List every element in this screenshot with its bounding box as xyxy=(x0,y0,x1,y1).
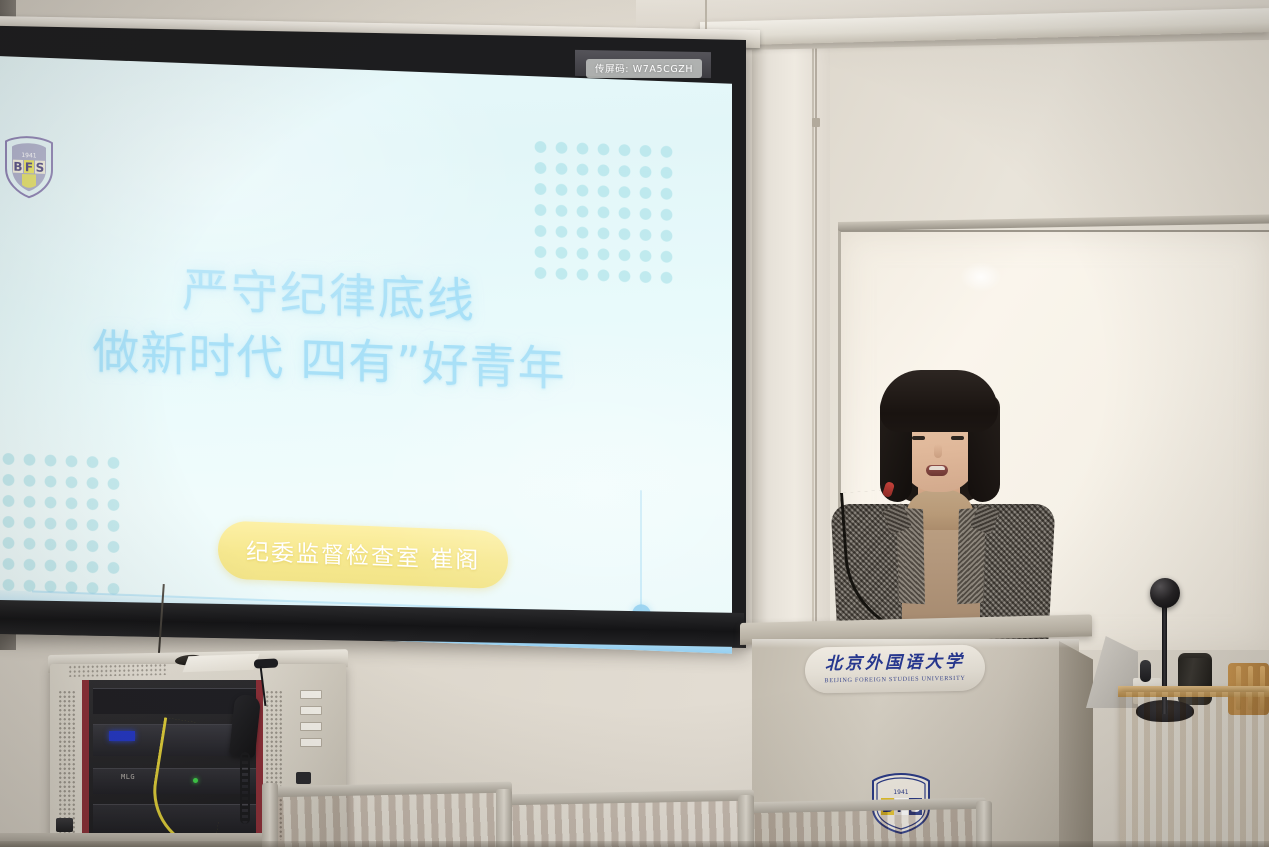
projection-screen-surface: 1941 B F S 严守纪律底线 做新时代 四有”好青年 纪委监督检查室 崔阁 xyxy=(0,56,732,654)
svg-text:F: F xyxy=(25,160,33,174)
floor-strip xyxy=(0,841,1269,847)
av-rack-vent-top xyxy=(68,663,168,677)
eye-left xyxy=(912,436,925,440)
rack-control-buttons[interactable] xyxy=(300,690,326,756)
ball-microphone xyxy=(1150,578,1180,608)
wall-cable xyxy=(815,36,817,646)
svg-text:S: S xyxy=(36,160,45,174)
rack-power-socket[interactable] xyxy=(56,818,73,832)
plaque-english-name: BEIJING FOREIGN STUDIES UNIVERSITY xyxy=(824,675,965,684)
podium-name-plaque: 北京外国语大学 BEIJING FOREIGN STUDIES UNIVERSI… xyxy=(805,644,985,693)
svg-text:1941: 1941 xyxy=(893,789,908,796)
hair-front xyxy=(880,370,998,432)
whiteboard-glare xyxy=(960,262,1002,292)
pillar-seam xyxy=(812,30,814,678)
phone-coiled-cord xyxy=(240,752,250,824)
projection-screen-frame: 1941 B F S 严守纪律底线 做新时代 四有”好青年 纪委监督检查室 崔阁 xyxy=(0,26,746,648)
eye-right xyxy=(951,436,964,440)
rack-button-2[interactable] xyxy=(300,706,322,715)
slide-dot-pattern-top-right xyxy=(530,136,680,290)
rack-button-3[interactable] xyxy=(300,722,322,731)
side-desk xyxy=(1120,692,1269,847)
rack-brand-label: MLG xyxy=(121,773,135,781)
rack-display-led xyxy=(109,731,135,741)
desk-microphone-capsule xyxy=(1140,660,1151,682)
rack-button-4[interactable] xyxy=(300,738,322,747)
lecture-hall-photo: 1941 B F S 严守纪律底线 做新时代 四有”好青年 纪委监督检查室 崔阁… xyxy=(0,0,1269,847)
rack-unit-1 xyxy=(93,688,256,714)
cable-clip xyxy=(812,118,820,127)
slide-dot-pattern-bottom-left xyxy=(0,448,128,603)
screen-share-code-label: 传屏码: W7A5CGZH xyxy=(586,59,702,78)
podium-side-panel xyxy=(1059,641,1093,847)
paper-sheet xyxy=(183,654,260,672)
remote-control xyxy=(254,658,278,668)
desk-post-3 xyxy=(738,795,754,847)
bfsu-shield-logo-icon: 1941 B F S xyxy=(2,134,56,200)
nose xyxy=(934,444,942,458)
desk-post-2 xyxy=(496,789,512,847)
rack-button-1[interactable] xyxy=(300,690,322,699)
slide-accent-vertical-line xyxy=(640,490,642,615)
svg-text:B: B xyxy=(13,160,22,174)
slide-presenter-badge: 纪委监督检查室 崔阁 xyxy=(218,520,508,589)
slide-title: 严守纪律底线 做新时代 四有”好青年 xyxy=(0,252,668,407)
rack-wall-socket[interactable] xyxy=(296,772,311,784)
plaque-chinese-name: 北京外国语大学 xyxy=(825,654,965,673)
teeth xyxy=(929,466,945,470)
svg-text:1941: 1941 xyxy=(21,152,36,160)
desk-post-1 xyxy=(262,783,278,847)
